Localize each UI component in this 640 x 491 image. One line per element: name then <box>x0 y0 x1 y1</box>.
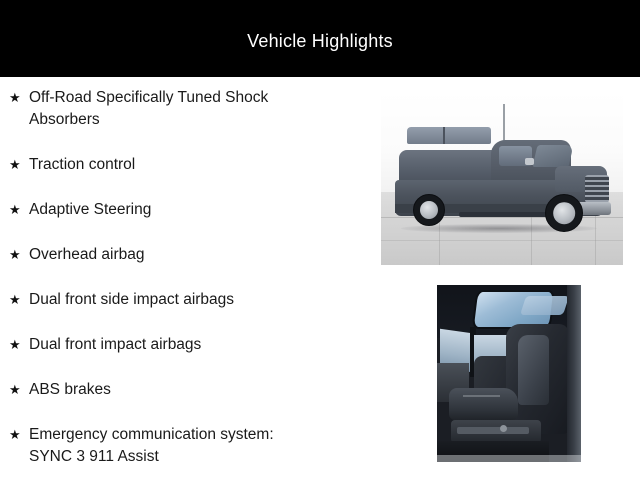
list-item: ★ Overhead airbag <box>0 244 372 266</box>
camper-shell-window <box>407 127 491 144</box>
vehicle-exterior-photo[interactable] <box>381 92 623 265</box>
star-bullet-icon: ★ <box>9 379 29 401</box>
front-rim <box>553 202 575 224</box>
star-bullet-icon: ★ <box>9 87 29 109</box>
star-bullet-icon: ★ <box>9 424 29 446</box>
page-title: Vehicle Highlights <box>247 28 393 50</box>
seat-cushion <box>449 388 518 420</box>
list-item: ★ Emergency communication system: SYNC 3… <box>0 424 372 468</box>
rear-wheel <box>413 194 445 226</box>
windshield <box>532 145 573 167</box>
rear-rim <box>420 201 438 219</box>
star-bullet-icon: ★ <box>9 334 29 356</box>
highlight-label: Overhead airbag <box>29 244 372 266</box>
list-item: ★ Off-Road Specifically Tuned Shock Abso… <box>0 87 372 131</box>
side-mirror <box>525 158 534 165</box>
list-item: ★ Traction control <box>0 154 372 176</box>
list-item: ★ Adaptive Steering <box>0 199 372 221</box>
highlight-label: Adaptive Steering <box>29 199 372 221</box>
door-panel <box>567 285 581 462</box>
running-board <box>459 212 553 217</box>
list-item: ★ ABS brakes <box>0 379 372 401</box>
highlight-label: ABS brakes <box>29 379 372 401</box>
window-divider <box>443 127 445 144</box>
sunroof-rear-panel <box>520 296 570 315</box>
highlight-label: Off-Road Specifically Tuned Shock Absorb… <box>29 87 372 131</box>
seat-stitching <box>463 395 500 397</box>
highlight-label: Dual front impact airbags <box>29 334 372 356</box>
truck-illustration <box>395 120 609 238</box>
star-bullet-icon: ★ <box>9 199 29 221</box>
star-bullet-icon: ★ <box>9 289 29 311</box>
seat-bolster <box>518 335 550 406</box>
header-bar: Vehicle Highlights <box>0 0 640 77</box>
vehicle-highlights-list: ★ Off-Road Specifically Tuned Shock Abso… <box>0 87 372 491</box>
seat-adjust-panel <box>457 427 529 434</box>
star-bullet-icon: ★ <box>9 154 29 176</box>
door-sill <box>437 455 581 462</box>
highlight-label: Traction control <box>29 154 372 176</box>
grille <box>585 175 609 203</box>
highlight-label: Dual front side impact airbags <box>29 289 372 311</box>
highlight-label: Emergency communication system: SYNC 3 9… <box>29 424 372 468</box>
list-item: ★ Dual front side impact airbags <box>0 289 372 311</box>
front-wheel <box>545 194 583 232</box>
list-item: ★ Dual front impact airbags <box>0 334 372 356</box>
vehicle-interior-photo[interactable] <box>437 285 581 462</box>
star-bullet-icon: ★ <box>9 244 29 266</box>
